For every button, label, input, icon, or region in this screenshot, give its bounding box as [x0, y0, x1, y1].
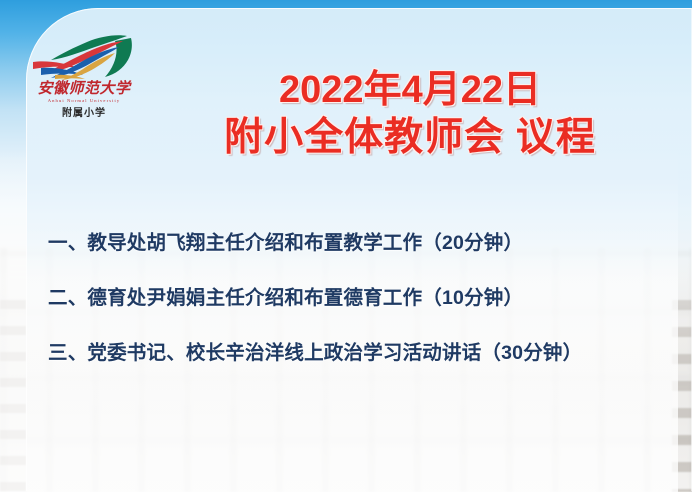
meeting-agenda-poster: 安徽师范大学 Anhui Normal University 附属小学 2022… — [0, 0, 692, 492]
school-logo-name-en: Anhui Normal University — [28, 97, 140, 104]
agenda-item: 一、教导处胡飞翔主任介绍和布置教学工作（20分钟） — [48, 216, 648, 271]
headline-date: 2022年4月22日 — [150, 66, 670, 114]
agenda-item: 三、党委书记、校长辛治洋线上政治学习活动讲话（30分钟） — [48, 326, 648, 381]
school-logo-mark-icon — [31, 32, 137, 80]
school-logo-subtitle: 附属小学 — [28, 107, 140, 120]
poster-headline: 2022年4月22日 附小全体教师会 议程 — [150, 66, 670, 162]
headline-title: 附小全体教师会 议程 — [150, 114, 670, 162]
agenda-list: 一、教导处胡飞翔主任介绍和布置教学工作（20分钟） 二、德育处尹娟娟主任介绍和布… — [48, 216, 648, 381]
agenda-item: 二、德育处尹娟娟主任介绍和布置德育工作（10分钟） — [48, 271, 648, 326]
school-logo: 安徽师范大学 Anhui Normal University 附属小学 — [28, 32, 140, 124]
school-logo-name-cn: 安徽师范大学 — [28, 81, 140, 97]
